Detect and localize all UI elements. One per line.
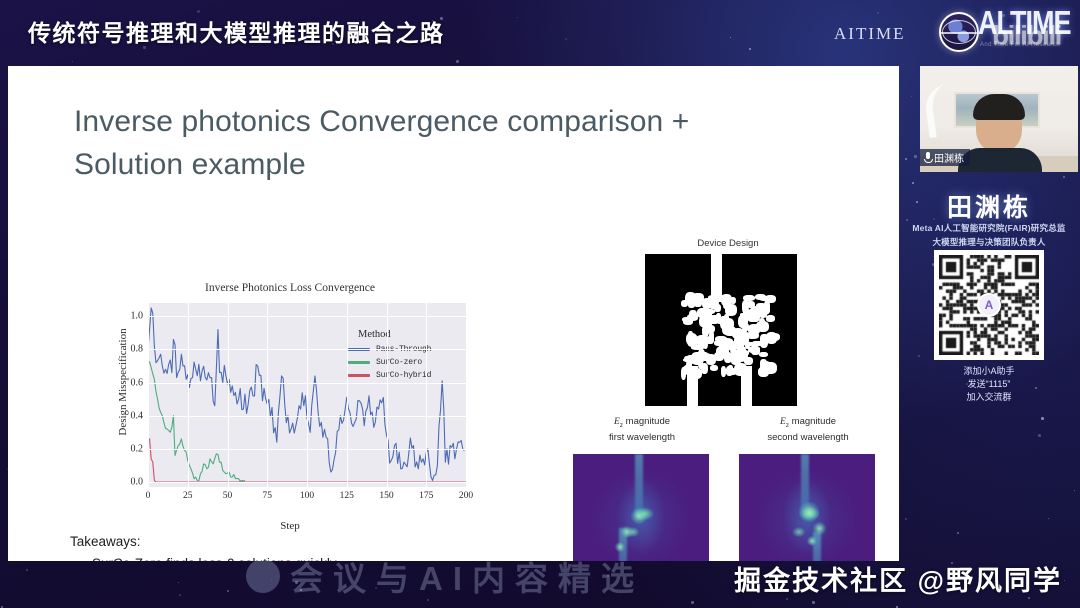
chart-y-tick: 1.0 (131, 311, 144, 322)
takeaway-item-1: - SurCo-Zero finds loss-0 solutions quic… (70, 554, 590, 561)
takeaway-text: SurCo-Zero finds loss-0 solutions quickl… (92, 554, 337, 561)
chart-legend-swatch (348, 361, 370, 364)
speaker-name: 田渊栋 (898, 188, 1080, 224)
chart-gridline-v (148, 303, 149, 487)
speaker-webcam-figure (966, 94, 1034, 172)
slide-title: Inverse photonics Convergence comparison… (74, 100, 714, 186)
speaker-hair (973, 94, 1025, 120)
qr-code-image[interactable]: A (934, 250, 1044, 360)
chart-legend-label: SurCo-hybrid (376, 371, 431, 380)
chart-x-tick: 175 (419, 491, 433, 501)
presentation-slide: Inverse photonics Convergence comparison… (8, 66, 899, 561)
takeaways-block: Takeaways: - SurCo-Zero finds loss-0 sol… (70, 532, 590, 561)
chart-y-tick: 0.0 (131, 477, 144, 488)
loss-convergence-chart: Inverse Photonics Loss Convergence Desig… (106, 282, 474, 530)
chart-gridline-v (228, 303, 229, 487)
chart-x-tick: 75 (263, 491, 273, 501)
speaker-video-tile[interactable]: 田渊栋 (920, 66, 1078, 172)
field-caption-right-line1: magnitude (792, 416, 836, 427)
chart-gridline-v (387, 303, 388, 487)
uploader-watermark: 掘金技术社区 @野风同学 (734, 559, 1062, 598)
chart-legend: Method Pass-ThroughSurCo-zeroSurCo-hybri… (344, 326, 466, 386)
field-symbol-right: Ez (780, 416, 789, 427)
device-design-caption: Device Design (563, 238, 893, 249)
qr-caption-line-1: 添加小A助手 (928, 365, 1050, 378)
chart-x-tick: 25 (183, 491, 193, 501)
device-design-image (645, 254, 797, 406)
chart-x-tick: 100 (300, 491, 314, 501)
field-caption-right: Ez magnitude second wavelength (733, 416, 883, 444)
page-title: 传统符号推理和大模型推理的融合之路 (28, 14, 445, 48)
app-root: 传统符号推理和大模型推理的融合之路 AITIME ALTIME And Time… (0, 0, 1080, 608)
field-caption-left-line1: magnitude (626, 416, 670, 427)
aitime-globe-icon (939, 12, 979, 52)
chart-legend-label: SurCo-zero (376, 358, 422, 367)
qr-center-logo-icon: A (977, 293, 1001, 317)
field-plot-second-wavelength (739, 454, 875, 561)
qr-code-block[interactable]: A 添加小A助手 发送“1115” 加入交流群 (928, 250, 1050, 404)
chart-series-surco-zero (148, 362, 245, 482)
takeaways-heading: Takeaways: (70, 532, 590, 552)
chart-y-axis-label: Design Misspecification (117, 297, 129, 467)
chart-legend-title: Method (358, 329, 466, 340)
figures-column: Device Design Ez magnitude first wavelen… (563, 238, 893, 561)
bilibili-watermark: bilibili (992, 21, 1061, 51)
field-caption-left-line2: first wavelength (609, 432, 675, 443)
aitime-wordmark: AITIME (834, 24, 905, 44)
ghost-logo-icon (246, 559, 280, 593)
video-name-chip: 田渊栋 (920, 149, 970, 166)
video-name-label: 田渊栋 (934, 150, 964, 165)
brand-logo-group: AITIME ALTIME And Time For AI Research b… (826, 2, 1076, 60)
chart-x-tick: 200 (459, 491, 473, 501)
chart-y-tick: 0.2 (131, 443, 144, 454)
chart-legend-item: SurCo-hybrid (348, 369, 466, 382)
field-caption-left: Ez magnitude first wavelength (567, 416, 717, 444)
speaker-role-line-2: 大模型推理与决策团队负责人 (898, 236, 1080, 248)
header-bar: 传统符号推理和大模型推理的融合之路 AITIME ALTIME And Time… (0, 0, 1080, 62)
speaker-role-line-1: Meta AI人工智能研究院(FAIR)研究总监 (898, 222, 1080, 234)
chart-gridline-v (267, 303, 268, 487)
chart-y-tick: 0.8 (131, 344, 144, 355)
bullet-dash: - (70, 554, 92, 561)
chart-legend-item: SurCo-zero (348, 356, 466, 369)
qr-caption-line-2: 发送“1115” (928, 378, 1050, 391)
chart-gridline-v (426, 303, 427, 487)
chart-title: Inverse Photonics Loss Convergence (106, 282, 474, 294)
chart-y-tick: 0.4 (131, 410, 144, 421)
speaker-torso (958, 148, 1042, 172)
field-caption-right-line2: second wavelength (767, 432, 848, 443)
qr-caption-line-3: 加入交流群 (928, 391, 1050, 404)
chart-x-tick: 0 (146, 491, 151, 501)
chart-plot-area: Method Pass-ThroughSurCo-zeroSurCo-hybri… (148, 303, 466, 487)
field-symbol-left: Ez (614, 416, 623, 427)
chart-x-tick: 50 (223, 491, 233, 501)
chart-x-axis-label: Step (106, 520, 474, 532)
right-sidebar: 田渊栋 田渊栋 Meta AI人工智能研究院(FAIR)研究总监 大模型推理与决… (898, 62, 1080, 608)
chart-gridline-v (347, 303, 348, 487)
chart-x-tick: 150 (379, 491, 393, 501)
chart-gridline-v (466, 303, 467, 487)
field-plot-first-wavelength (573, 454, 709, 561)
microphone-icon (924, 152, 931, 163)
chart-legend-swatch (348, 374, 370, 377)
chart-gridline-v (188, 303, 189, 487)
chart-gridline-v (307, 303, 308, 487)
chart-x-tick: 125 (340, 491, 354, 501)
chart-y-tick: 0.6 (131, 377, 144, 388)
